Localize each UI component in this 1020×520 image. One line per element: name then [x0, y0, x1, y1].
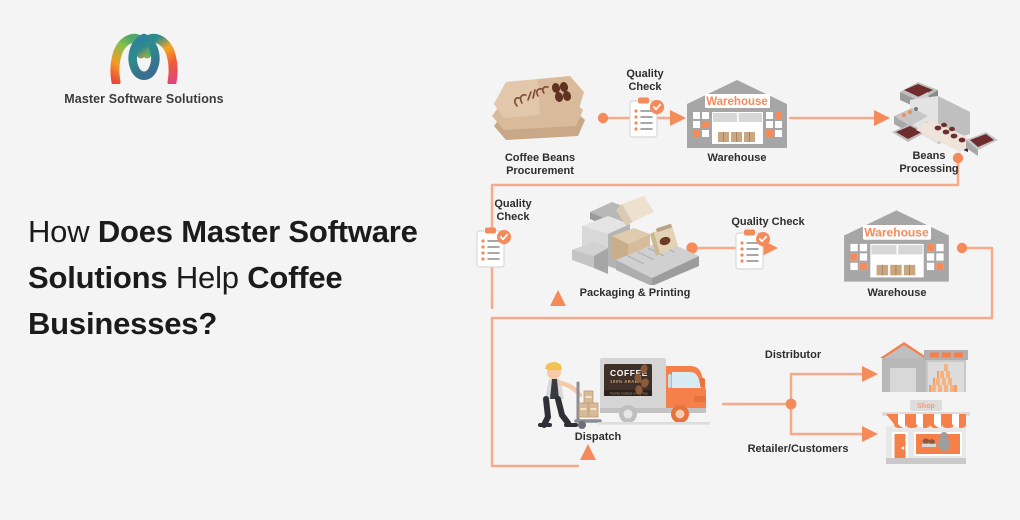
flow-arrow	[862, 426, 878, 442]
flow-dot	[598, 113, 608, 123]
node-warehouse-1: Warehouse	[685, 78, 790, 155]
shop-sign: Shop	[917, 403, 935, 410]
warehouse-icon: Warehouse	[685, 78, 790, 150]
flow-dot	[957, 243, 967, 253]
packaging-machine-icon	[568, 190, 703, 285]
caption-coffee-beans-procurement: Coffee Beans Procurement	[470, 152, 610, 178]
retail-shop-icon: Shop	[882, 400, 970, 464]
caption-dispatch: Dispatch	[548, 431, 648, 444]
delivery-truck-icon: COFFEE 100% ARABICA freshly roasted ever…	[598, 352, 718, 434]
clipboard-check-icon	[733, 228, 771, 274]
label-quality-check-1: Quality Check	[600, 68, 690, 94]
node-distributor	[880, 340, 968, 399]
coffee-sacks-icon	[482, 68, 592, 144]
svg-text:freshly roasted every day: freshly roasted every day	[610, 392, 648, 396]
label-distributor: Distributor	[738, 349, 848, 362]
flow-dot	[786, 399, 797, 410]
node-quality-check-1	[627, 96, 665, 147]
master-software-solutions-logo	[108, 28, 180, 84]
clipboard-check-icon	[474, 226, 512, 272]
headline-part-1: How	[28, 214, 98, 249]
flow-arrow	[580, 444, 596, 460]
clipboard-check-icon	[627, 96, 665, 142]
node-coffee-beans-procurement	[482, 68, 592, 149]
label-retailer-customers: Retailer/Customers	[728, 443, 868, 456]
node-packaging-printing	[568, 190, 703, 290]
node-delivery-truck: COFFEE 100% ARABICA freshly roasted ever…	[598, 352, 718, 439]
warehouse-worker-icon	[532, 355, 602, 430]
headline-part-3: Help	[167, 260, 247, 295]
infographic-canvas: Master Software Solutions How Does Maste…	[0, 0, 1020, 520]
warehouse-sign-2: Warehouse	[864, 226, 929, 240]
node-dispatch-worker	[532, 355, 602, 435]
caption-beans-processing: Beans Processing	[874, 150, 984, 176]
node-retailer-customers: Shop	[882, 400, 970, 469]
distributor-warehouse-icon	[880, 340, 968, 394]
brand-name: Master Software Solutions	[34, 92, 254, 106]
node-quality-check-3	[733, 228, 771, 279]
caption-warehouse-1: Warehouse	[687, 152, 787, 165]
brand-block: Master Software Solutions	[34, 28, 254, 106]
flow-arrow	[670, 110, 686, 126]
caption-warehouse-2: Warehouse	[847, 287, 947, 300]
caption-packaging-printing: Packaging & Printing	[560, 287, 710, 300]
node-quality-check-2	[474, 226, 512, 277]
supply-chain-diagram: Coffee Beans Procurement Quality Check W…	[470, 0, 1020, 520]
label-quality-check-2: Quality Check	[468, 198, 558, 224]
page-title: How Does Master Software Solutions Help …	[28, 209, 448, 347]
flow-arrow	[862, 366, 878, 382]
warehouse-sign-1: Warehouse	[706, 96, 768, 108]
roasting-machine-icon	[882, 70, 1000, 156]
node-beans-processing	[882, 70, 1000, 161]
warehouse-icon: Warehouse	[842, 208, 952, 284]
node-warehouse-2: Warehouse	[842, 208, 952, 289]
